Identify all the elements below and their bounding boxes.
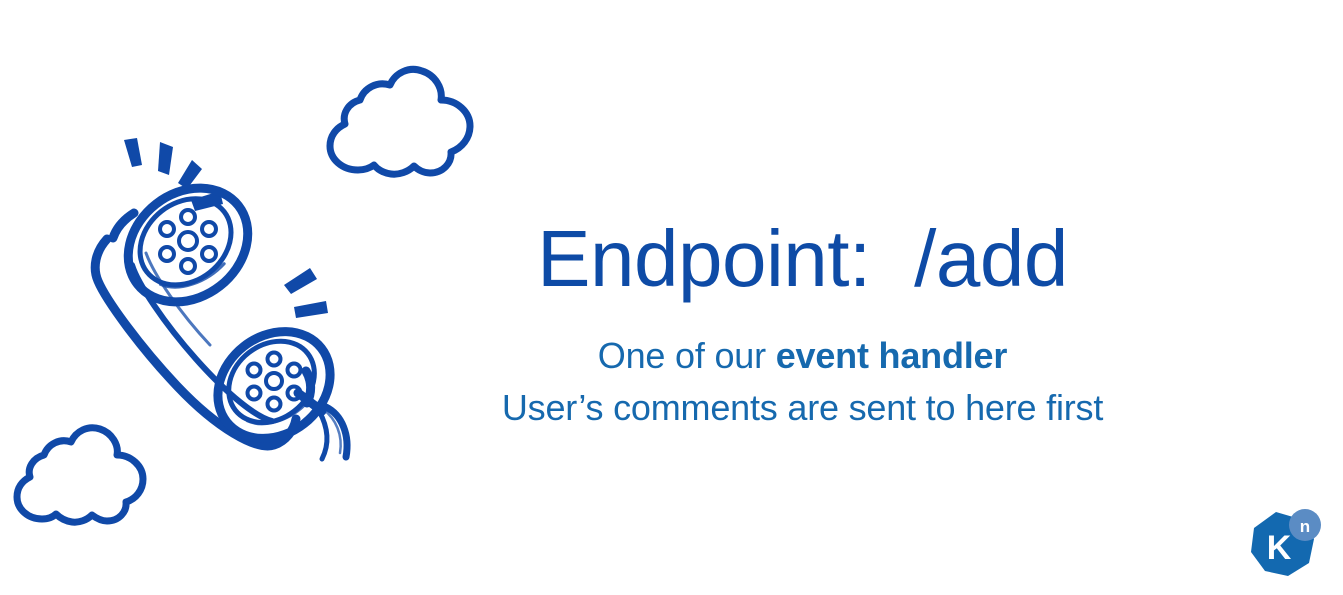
cloud-icon (2, 420, 162, 535)
page-title: Endpoint: /add (430, 218, 1175, 300)
slide-canvas: Endpoint: /add One of our event handler … (0, 0, 1343, 595)
subtitle-line-1-emphasis: event handler (776, 335, 1007, 376)
subtitle-line-2: User’s comments are sent to here first (430, 382, 1175, 434)
subtitle-line-1-prefix: One of our (598, 335, 776, 376)
brand-logo: K n (1246, 508, 1324, 582)
ringing-telephone-handset-icon (60, 135, 380, 465)
logo-letter-k: K (1267, 529, 1292, 567)
logo-letter-n: n (1300, 517, 1310, 536)
cloud-icon (312, 62, 492, 187)
slide-text-block: Endpoint: /add One of our event handler … (430, 218, 1175, 434)
subtitle-line-1: One of our event handler (430, 330, 1175, 382)
